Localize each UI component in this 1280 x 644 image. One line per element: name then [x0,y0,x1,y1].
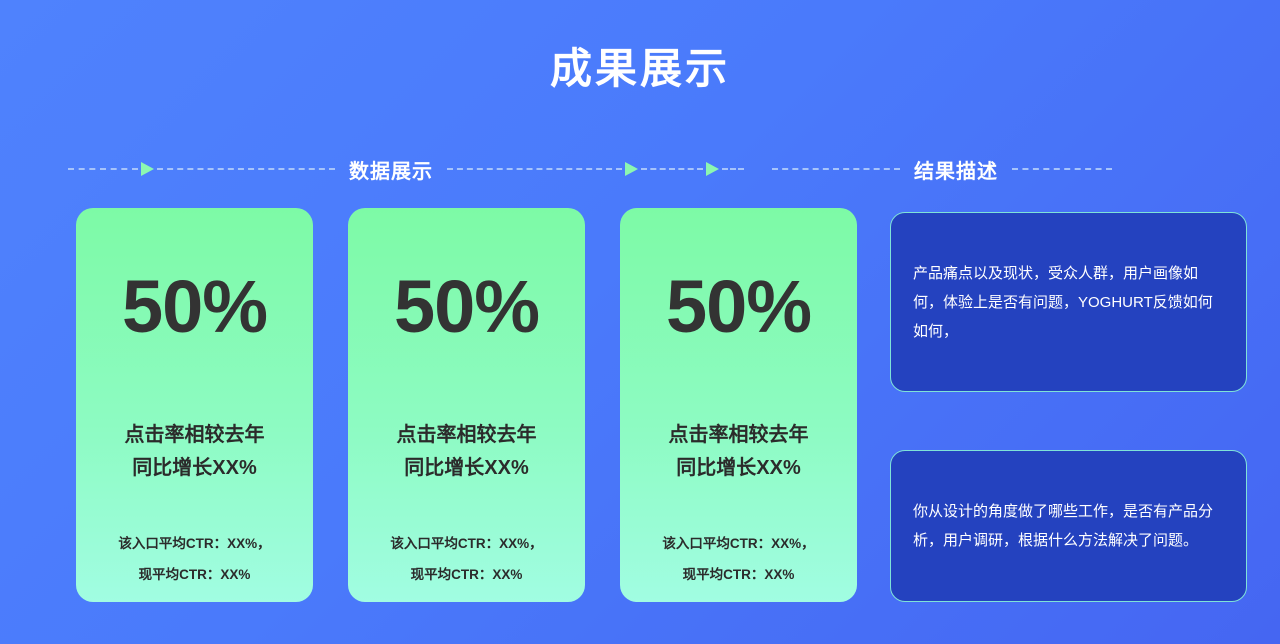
divider-dash-segment [447,168,622,170]
divider-dash-segment [157,168,335,170]
section-label-result: 结果描述 [900,155,1012,184]
divider-dash-segment [1012,168,1112,170]
stat-detail-line1: 该入口平均CTR：XX%， [662,536,814,551]
stat-value: 50% [76,270,313,344]
stat-headline-line1: 点击率相较去年 [669,424,809,446]
stat-detail-line1: 该入口平均CTR：XX%， [118,536,270,551]
stat-card[interactable]: 50% 点击率相较去年 同比增长XX% 该入口平均CTR：XX%， 现平均CTR… [76,208,313,602]
stat-detail-line2: 现平均CTR：XX% [348,559,585,590]
page-title: 成果展示 [0,48,1280,90]
description-column: 产品痛点以及现状，受众人群，用户画像如何，体验上是否有问题，YOGHURT反馈如… [890,212,1247,602]
stat-card[interactable]: 50% 点击率相较去年 同比增长XX% 该入口平均CTR：XX%， 现平均CTR… [620,208,857,602]
divider-dash-segment [641,168,703,170]
triangle-right-icon [706,162,719,176]
section-label-data: 数据展示 [335,155,447,184]
stat-headline: 点击率相较去年 同比增长XX% [348,419,585,485]
stat-detail: 该入口平均CTR：XX%， 现平均CTR：XX% [348,528,585,590]
stat-headline: 点击率相较去年 同比增长XX% [620,419,857,485]
triangle-right-icon [625,162,638,176]
stat-card-group: 50% 点击率相较去年 同比增长XX% 该入口平均CTR：XX%， 现平均CTR… [76,208,857,602]
stat-headline-line2: 同比增长XX% [76,452,313,485]
stat-headline-line1: 点击率相较去年 [397,424,537,446]
stat-value: 50% [348,270,585,344]
stat-detail: 该入口平均CTR：XX%， 现平均CTR：XX% [620,528,857,590]
divider-dash-segment [772,168,900,170]
divider-dash-segment [722,168,744,170]
stat-detail-line2: 现平均CTR：XX% [620,559,857,590]
section-divider-row: 数据展示 结果描述 [0,155,1280,183]
stat-headline: 点击率相较去年 同比增长XX% [76,419,313,485]
stat-card[interactable]: 50% 点击率相较去年 同比增长XX% 该入口平均CTR：XX%， 现平均CTR… [348,208,585,602]
stat-headline-line2: 同比增长XX% [348,452,585,485]
stat-headline-line1: 点击率相较去年 [125,424,265,446]
triangle-right-icon [141,162,154,176]
stat-detail: 该入口平均CTR：XX%， 现平均CTR：XX% [76,528,313,590]
description-box[interactable]: 产品痛点以及现状，受众人群，用户画像如何，体验上是否有问题，YOGHURT反馈如… [890,212,1247,392]
stat-value: 50% [620,270,857,344]
stat-headline-line2: 同比增长XX% [620,452,857,485]
stat-detail-line1: 该入口平均CTR：XX%， [390,536,542,551]
description-box[interactable]: 你从设计的角度做了哪些工作，是否有产品分析，用户调研，根据什么方法解决了问题。 [890,450,1247,602]
divider-dash-segment [68,168,138,170]
stat-detail-line2: 现平均CTR：XX% [76,559,313,590]
